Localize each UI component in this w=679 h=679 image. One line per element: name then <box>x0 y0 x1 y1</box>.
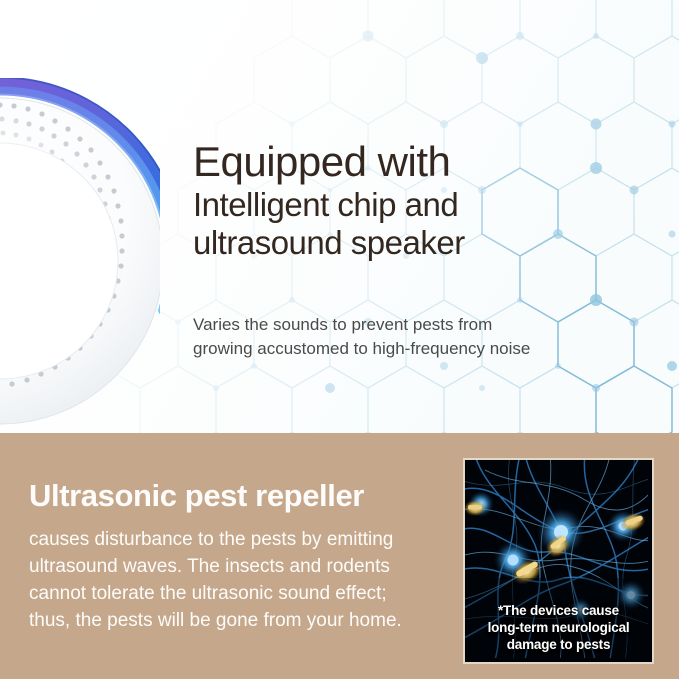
product-feature-infographic: Equipped with Intelligent chip and ultra… <box>0 0 679 679</box>
ultrasonic-repeller-device-image <box>0 78 160 433</box>
subtitle-line-1: Varies the sounds to prevent pests from <box>193 313 593 337</box>
body-line-4: thus, the pests will be gone from your h… <box>29 607 449 634</box>
heading-line-1: Equipped with <box>193 138 593 186</box>
heading-line-3: ultrasound speaker <box>193 224 593 262</box>
caption-line-1: *The devices cause <box>465 602 652 619</box>
top-feature-section: Equipped with Intelligent chip and ultra… <box>0 0 679 433</box>
caption-line-3: damage to pests <box>465 636 652 653</box>
bottom-section-body: causes disturbance to the pests by emitt… <box>29 526 449 634</box>
body-line-2: ultrasound waves. The insects and rodent… <box>29 553 449 580</box>
bottom-feature-section: Ultrasonic pest repeller causes disturba… <box>0 433 679 679</box>
top-heading-block: Equipped with Intelligent chip and ultra… <box>193 138 593 262</box>
neuron-inset-image: *The devices cause long-term neurologica… <box>463 458 654 664</box>
caption-line-2: long-term neurological <box>465 619 652 636</box>
heading-line-2: Intelligent chip and <box>193 186 593 224</box>
body-line-3: cannot tolerate the ultrasonic sound eff… <box>29 580 449 607</box>
body-line-1: causes disturbance to the pests by emitt… <box>29 526 449 553</box>
inset-caption: *The devices cause long-term neurologica… <box>465 602 652 653</box>
bottom-text-block: Ultrasonic pest repeller causes disturba… <box>29 478 449 634</box>
top-subtitle-block: Varies the sounds to prevent pests from … <box>193 313 593 361</box>
subtitle-line-2: growing accustomed to high-frequency noi… <box>193 337 593 361</box>
bottom-section-title: Ultrasonic pest repeller <box>29 478 449 514</box>
